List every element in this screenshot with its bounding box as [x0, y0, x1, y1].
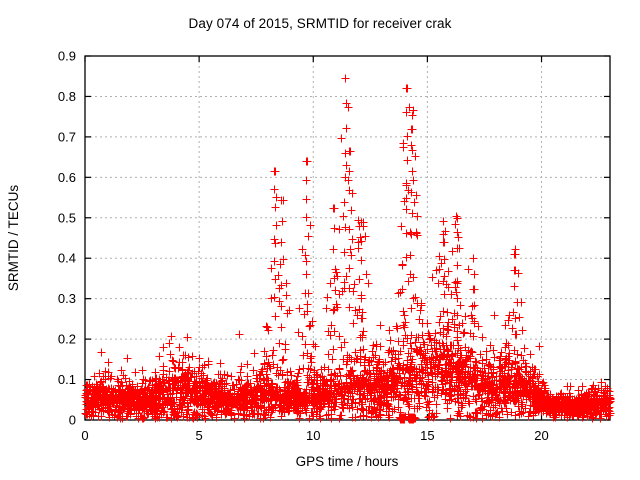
- y-tick-label: 0.4: [58, 251, 76, 266]
- y-tick-label: 0.5: [58, 210, 76, 225]
- data-points: [82, 75, 615, 424]
- scatter-plot-canvas: 00.10.20.30.40.50.60.70.80.905101520 GPS…: [0, 0, 640, 480]
- x-tick-label: 15: [420, 428, 434, 443]
- x-tick-label: 5: [196, 428, 203, 443]
- y-tick-label: 0.6: [58, 170, 76, 185]
- x-tick-label: 20: [534, 428, 548, 443]
- y-axis-title: SRMTID / TECUs: [6, 185, 21, 292]
- x-tick-label: 10: [306, 428, 320, 443]
- y-tick-label: 0.7: [58, 129, 76, 144]
- x-tick-label: 0: [81, 428, 88, 443]
- y-tick-label: 0.1: [58, 372, 76, 387]
- y-tick-label: 0.3: [58, 291, 76, 306]
- y-tick-label: 0: [69, 413, 76, 428]
- y-tick-label: 0.8: [58, 89, 76, 104]
- x-axis-title: GPS time / hours: [296, 454, 399, 469]
- y-tick-label: 0.2: [58, 332, 76, 347]
- gnuplot-figure: Day 074 of 2015, SRMTID for receiver cra…: [0, 0, 640, 480]
- y-tick-label: 0.9: [58, 49, 76, 64]
